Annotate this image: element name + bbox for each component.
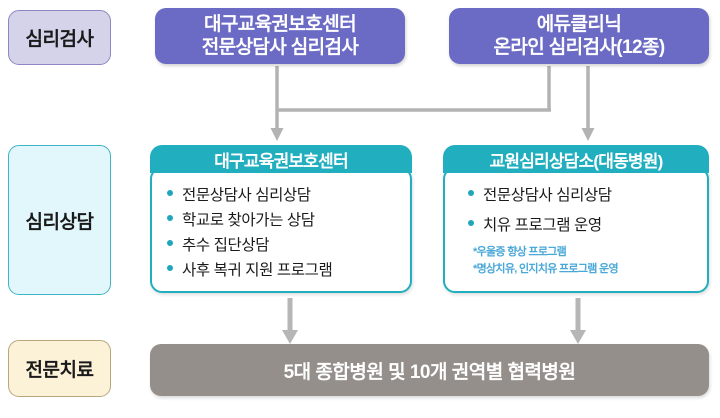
node-title-line1: 대구교육권보호센터 (204, 13, 356, 36)
list-item: 전문상담사 심리상담 (166, 183, 400, 205)
node-partner-hospitals[interactable]: 5대 종합병원 및 10개 권역별 협력병원 (150, 344, 709, 396)
list-item: 사후 복귀 지원 프로그램 (166, 258, 400, 280)
node-title-line1: 에듀클리닉 (537, 13, 621, 36)
list-item: 학교로 찾아가는 상담 (166, 208, 400, 230)
node-educlinic-assessment[interactable]: 에듀클리닉 온라인 심리검사(12종) (449, 8, 709, 64)
stage-label-counseling: 심리상담 (8, 145, 111, 295)
node-dgcenter-counseling[interactable]: 대구교육권보호센터 전문상담사 심리상담 학교로 찾아가는 상담 추수 집단상담… (150, 145, 412, 293)
stage-label-text: 심리검사 (26, 24, 94, 51)
flowchart-diagram: 심리검사 심리상담 전문치료 대구교육권보호센터 전문상담사 심리검사 에듀클리… (0, 0, 720, 418)
card-body: 전문상담사 심리상담 치유 프로그램 운영 *우울증 향상 프로그램 *명상치유… (443, 167, 709, 293)
service-list: 전문상담사 심리상담 학교로 찾아가는 상담 추수 집단상담 사후 복귀 지원 … (166, 183, 400, 280)
subnote: *명상치유, 인지치유 프로그램 운영 (467, 260, 697, 276)
node-teacher-clinic[interactable]: 교원심리상담소(대동병원) 전문상담사 심리상담 치유 프로그램 운영 *우울증… (443, 145, 709, 293)
node-dgcenter-assessment[interactable]: 대구교육권보호센터 전문상담사 심리검사 (155, 8, 405, 64)
stage-label-text: 심리상담 (26, 207, 94, 234)
card-header: 교원심리상담소(대동병원) (443, 145, 709, 173)
stage-label-treatment: 전문치료 (8, 340, 111, 397)
node-label: 5대 종합병원 및 10개 권역별 협력병원 (284, 357, 576, 384)
list-item: 추수 집단상담 (166, 233, 400, 255)
node-title-line2: 온라인 심리검사(12종) (493, 36, 664, 59)
subnote: *우울증 향상 프로그램 (467, 243, 697, 259)
list-item: 치유 프로그램 운영 (467, 213, 697, 235)
list-item: 전문상담사 심리상담 (467, 183, 697, 205)
card-header: 대구교육권보호센터 (150, 145, 412, 173)
node-title-line2: 전문상담사 심리검사 (202, 36, 359, 59)
stage-label-assessment: 심리검사 (8, 10, 111, 65)
service-list: 전문상담사 심리상담 치유 프로그램 운영 (467, 183, 697, 235)
stage-label-text: 전문치료 (26, 355, 94, 382)
card-body: 전문상담사 심리상담 학교로 찾아가는 상담 추수 집단상담 사후 복귀 지원 … (150, 167, 412, 293)
